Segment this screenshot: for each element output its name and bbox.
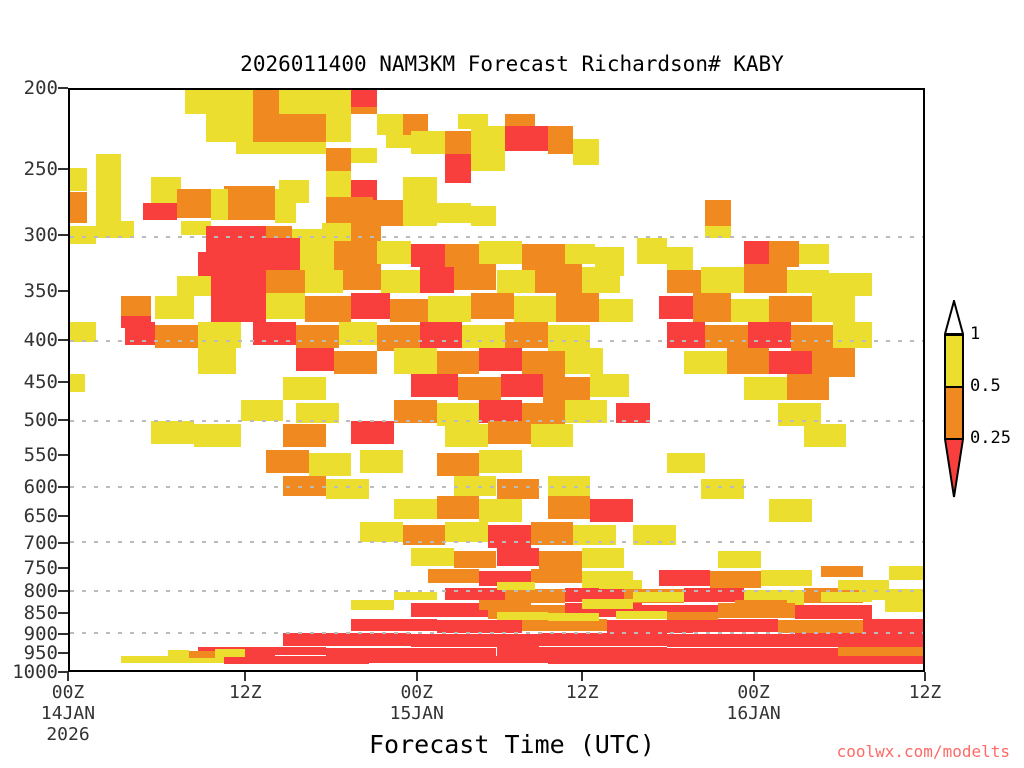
chart-root: 2026011400 NAM3KM Forecast Richardson# K… <box>0 0 1024 768</box>
heatmap-cell <box>279 90 352 114</box>
heatmap-cell <box>548 656 736 664</box>
colorbar-top-outline <box>944 300 964 334</box>
heatmap-cell <box>168 650 189 658</box>
heatmap-cell <box>326 197 373 223</box>
heatmap-cell <box>633 525 676 545</box>
heatmap-cell <box>731 299 769 322</box>
x-tick-label: 12Z <box>566 682 599 703</box>
y-tick <box>58 515 68 517</box>
heatmap-cell <box>266 450 309 473</box>
heatmap-cell <box>420 267 454 293</box>
heatmap-cell <box>705 226 731 238</box>
y-tick-label: 500 <box>24 409 58 431</box>
heatmap-cell <box>769 296 812 322</box>
heatmap-cell <box>403 525 446 545</box>
heatmap-cell <box>377 325 420 351</box>
heatmap-cell <box>121 296 151 316</box>
heatmap-cell <box>701 479 744 499</box>
heatmap-cell <box>428 569 479 584</box>
heatmap-cell <box>428 296 471 322</box>
heatmap-cell <box>859 589 923 601</box>
colorbar-bottom-arrow <box>944 438 964 498</box>
y-tick <box>58 168 68 170</box>
y-tick-label: 550 <box>24 444 58 466</box>
y-tick-label: 200 <box>24 77 58 99</box>
y-tick <box>58 419 68 421</box>
x-tick-label: 00Z <box>737 682 770 703</box>
y-tick-label: 450 <box>24 371 58 393</box>
heatmap-cell <box>283 424 326 447</box>
heatmap-cell <box>804 424 847 447</box>
x-tick-label: 12Z <box>909 682 942 703</box>
heatmap-cell <box>573 525 616 545</box>
heatmap-cell <box>283 476 326 496</box>
heatmap-cell <box>420 322 463 348</box>
heatmap-cell <box>305 270 343 293</box>
y-tick-label: 300 <box>24 224 58 246</box>
y-tick-label: 600 <box>24 476 58 498</box>
y-tick <box>58 290 68 292</box>
heatmap-cell <box>667 322 705 348</box>
y-tick-label: 250 <box>24 158 58 180</box>
heatmap-cell <box>633 592 684 601</box>
heatmap-cell <box>283 377 326 400</box>
heatmap-cell <box>125 322 155 345</box>
heatmap-cell <box>548 325 591 351</box>
heatmap-cell <box>522 351 565 377</box>
heatmap-cell <box>885 600 923 612</box>
heatmap-cell <box>479 499 522 522</box>
heatmap-cell <box>761 570 812 586</box>
heatmap-cell <box>445 154 471 183</box>
heatmap-cell <box>198 348 236 374</box>
heatmap-cell <box>386 135 412 148</box>
heatmap-cell <box>351 619 436 631</box>
heatmap-cell <box>211 264 266 296</box>
heatmap-cell <box>531 569 582 584</box>
heatmap-cell <box>437 496 480 519</box>
y-tick <box>58 486 68 488</box>
y-tick <box>58 590 68 592</box>
heatmap-cell <box>497 612 548 620</box>
heatmap-cell <box>198 322 241 348</box>
heatmap-cell <box>326 479 369 499</box>
heatmap-cell <box>833 322 871 348</box>
heatmap-cell <box>582 267 620 293</box>
heatmap-cell <box>479 241 522 264</box>
heatmap-cell <box>693 619 778 632</box>
heatmap-cell <box>194 424 241 447</box>
page-title: 2026011400 NAM3KM Forecast Richardson# K… <box>0 52 1024 76</box>
heatmap-cell <box>667 453 705 473</box>
heatmap-cell <box>479 450 522 473</box>
heatmap-cell <box>253 90 279 114</box>
heatmap-cell <box>351 148 377 163</box>
heatmap-cell <box>548 613 599 621</box>
y-tick <box>58 381 68 383</box>
heatmap-cell <box>411 244 445 267</box>
heatmap-cell <box>769 499 812 522</box>
colorbar-label: 0.25 <box>970 428 1011 448</box>
heatmap-cell <box>411 374 458 397</box>
y-tick <box>58 652 68 654</box>
heatmap-cell <box>599 299 633 322</box>
heatmap-cell <box>497 270 535 293</box>
heatmap-cell <box>70 374 85 391</box>
credit-watermark: coolwx.com/modelts <box>837 742 1010 761</box>
x-tick-label: 00Z <box>400 682 433 703</box>
heatmap-cell <box>795 633 923 647</box>
colorbar-label: 0.5 <box>970 376 1001 396</box>
x-tick <box>581 672 583 681</box>
heatmap-cell <box>211 189 228 221</box>
heatmap-cell <box>812 293 855 322</box>
heatmap-cell <box>889 566 923 581</box>
heatmap-cell <box>454 264 497 290</box>
x-tick <box>416 672 418 681</box>
heatmap-cell <box>607 620 692 633</box>
heatmap-cell <box>445 522 488 542</box>
y-tick-label: 650 <box>24 505 58 527</box>
y-tick <box>58 454 68 456</box>
x-tick-label: 00Z <box>52 682 85 703</box>
heatmap-cell <box>70 322 96 342</box>
heatmap-cell <box>667 634 795 647</box>
heatmap-cell <box>582 548 625 568</box>
x-tick-date: 16JAN <box>727 703 781 724</box>
heatmap-cell <box>616 611 667 619</box>
heatmap-cell <box>445 131 471 154</box>
heatmap-cell <box>787 374 830 400</box>
heatmap-cell <box>351 223 381 240</box>
heatmap-cell <box>236 142 326 154</box>
heatmap-cell <box>215 649 245 657</box>
heatmap-cell <box>479 600 530 609</box>
heatmap-cell <box>701 267 744 293</box>
colorbar-label: 1 <box>970 324 980 344</box>
heatmap-cell <box>659 296 693 319</box>
heatmap-cell <box>96 154 122 177</box>
heatmap-cell <box>185 90 253 114</box>
heatmap-cell <box>812 348 855 377</box>
heatmap-cell <box>778 620 863 633</box>
heatmap-cell <box>705 325 748 348</box>
heatmap-cell <box>300 247 334 270</box>
heatmap-cell <box>710 571 761 587</box>
heatmap-cell <box>462 325 505 348</box>
heatmap-cell <box>296 325 339 348</box>
heatmap-cell <box>309 453 352 476</box>
heatmap-cell <box>305 296 352 322</box>
y-tick-label: 400 <box>24 329 58 351</box>
heatmap-cell <box>556 293 599 322</box>
heatmap-cell <box>253 322 296 345</box>
heatmap-cell <box>266 270 304 296</box>
heatmap-cell <box>351 90 377 107</box>
heatmap-cell <box>471 293 514 319</box>
heatmap-cell <box>394 400 437 423</box>
heatmap-cell <box>377 114 403 135</box>
heatmap-cell <box>667 247 693 270</box>
heatmap-cell <box>471 126 505 154</box>
heatmap-cell <box>565 348 603 374</box>
heatmap-cell <box>211 296 266 322</box>
heatmap-cell <box>390 299 428 322</box>
y-tick <box>58 542 68 544</box>
heatmap-cell <box>531 522 574 545</box>
heatmap-cell <box>514 296 557 322</box>
y-tick-label: 850 <box>24 602 58 624</box>
heatmap-cell <box>539 633 667 646</box>
heatmap-cell <box>735 656 923 665</box>
gridline <box>70 670 923 672</box>
heatmap-cell <box>769 351 812 374</box>
heatmap-cell <box>377 241 411 264</box>
heatmap-cell <box>394 348 437 374</box>
heatmap-cell <box>411 634 539 647</box>
heatmap-cell <box>769 241 799 267</box>
heatmap-cell <box>748 322 791 348</box>
heatmap-cell <box>360 450 403 473</box>
heatmap-cell <box>590 374 628 397</box>
y-tick <box>58 633 68 635</box>
y-tick-label: 700 <box>24 532 58 554</box>
heatmap-cell <box>616 403 650 423</box>
heatmap-cell <box>296 403 339 423</box>
heatmap-cell <box>373 200 403 226</box>
heatmap-cell <box>548 126 574 154</box>
heatmap-cell <box>488 525 531 548</box>
plot-area <box>68 88 925 672</box>
heatmap-cell <box>548 496 591 519</box>
y-tick <box>58 567 68 569</box>
heatmap-cell <box>411 131 445 154</box>
y-tick-label: 750 <box>24 557 58 579</box>
x-tick-date: 15JAN <box>390 703 444 724</box>
heatmap-cell <box>206 114 253 142</box>
heatmap-cell <box>143 203 177 220</box>
heatmap-cell <box>253 114 326 142</box>
heatmap-cell <box>151 421 194 444</box>
heatmap-cell <box>488 421 531 444</box>
heatmap-cell <box>381 270 419 293</box>
heatmap-cell <box>437 453 480 476</box>
heatmap-cell <box>471 154 505 171</box>
heatmap-cell <box>458 377 501 400</box>
heatmap-cell <box>360 522 403 542</box>
heatmap-cell <box>667 270 701 293</box>
heatmap-cell <box>565 400 608 423</box>
heatmap-cell <box>437 351 480 374</box>
heatmap-cell <box>799 244 829 264</box>
heatmap-cell <box>241 400 284 420</box>
x-tick <box>244 672 246 681</box>
heatmap-cell <box>437 620 522 633</box>
heatmap-cell <box>684 351 727 374</box>
heatmap-cell <box>582 599 633 608</box>
heatmap-cell <box>497 479 540 499</box>
heatmap-cell <box>155 296 193 319</box>
heatmap-cell <box>445 424 488 447</box>
heatmap-cell <box>279 180 309 203</box>
heatmap-cell <box>351 600 394 609</box>
heatmap-cell <box>411 548 454 565</box>
heatmap-cell <box>189 651 215 658</box>
heatmap-cell <box>245 651 275 659</box>
heatmap-cell <box>667 612 718 620</box>
y-tick <box>58 87 68 89</box>
colorbar-segment-yellow[interactable] <box>944 334 964 386</box>
heatmap-cell <box>471 206 497 226</box>
colorbar-segment-orange[interactable] <box>944 386 964 438</box>
x-tick <box>924 672 926 681</box>
heatmap-cell <box>744 377 787 400</box>
heatmap-cell <box>659 570 710 586</box>
heatmap-cell <box>394 592 437 600</box>
heatmap-cell <box>369 656 548 664</box>
y-tick-label: 350 <box>24 280 58 302</box>
heatmap-cell <box>351 107 377 114</box>
heatmap-cell <box>735 600 786 609</box>
heatmap-cell <box>501 374 544 397</box>
heatmap-cell <box>637 238 667 264</box>
heatmap-cell <box>531 424 574 447</box>
heatmap-cell <box>573 139 599 165</box>
heatmap-cell <box>535 264 582 293</box>
heatmap-cell <box>505 126 548 151</box>
y-tick <box>58 612 68 614</box>
heatmap-cell <box>744 241 770 264</box>
y-tick <box>58 234 68 236</box>
heatmap-cell <box>339 322 377 345</box>
heatmap-cell <box>70 226 96 243</box>
heatmap-cell <box>590 499 633 522</box>
heatmap-cell <box>334 351 377 374</box>
heatmap-cell <box>394 499 437 519</box>
heatmap-cell <box>177 276 211 296</box>
heatmap-cell <box>821 566 864 578</box>
heatmap-cell <box>863 619 923 633</box>
heatmap-cell <box>693 293 731 322</box>
heatmap-cell <box>727 348 770 374</box>
heatmap-cell <box>454 476 497 496</box>
heatmap-cell <box>437 203 471 223</box>
heatmap-cell <box>224 186 275 221</box>
heatmap-cell <box>403 206 437 226</box>
heatmap-cell <box>343 264 381 290</box>
y-tick-label: 1000 <box>12 661 58 683</box>
heatmap-cell <box>543 377 590 403</box>
heatmap-cells <box>70 90 923 670</box>
heatmap-cell <box>266 293 304 319</box>
heatmap-cell <box>599 580 642 589</box>
heatmap-cell <box>744 264 787 293</box>
heatmap-cell <box>283 633 411 646</box>
heatmap-cell <box>565 244 595 264</box>
heatmap-cell <box>70 168 87 191</box>
y-tick <box>58 339 68 341</box>
heatmap-cell <box>411 603 488 616</box>
x-tick-date: 14JAN <box>41 703 95 724</box>
heatmap-cell <box>505 322 548 348</box>
heatmap-cell <box>705 200 731 226</box>
x-tick <box>753 672 755 681</box>
y-tick-label: 800 <box>24 580 58 602</box>
heatmap-cell <box>795 605 872 619</box>
heatmap-cell <box>403 177 437 206</box>
heatmap-cell <box>326 114 352 142</box>
heatmap-cell <box>96 221 134 238</box>
heatmap-cell <box>177 189 211 218</box>
heatmap-cell <box>326 171 352 197</box>
heatmap-cell <box>454 551 497 568</box>
heatmap-cell <box>351 293 389 319</box>
heatmap-cell <box>351 421 394 444</box>
heatmap-cell <box>497 582 535 590</box>
heatmap-cell <box>548 476 591 496</box>
heatmap-cell <box>479 348 522 371</box>
x-tick-label: 12Z <box>229 682 262 703</box>
heatmap-cell <box>787 270 830 293</box>
heatmap-cell <box>791 325 834 351</box>
heatmap-cell <box>326 148 352 171</box>
heatmap-cell <box>155 325 198 348</box>
heatmap-cell <box>70 192 87 224</box>
heatmap-cell <box>497 548 540 565</box>
x-tick <box>67 672 69 681</box>
heatmap-cell <box>718 551 761 568</box>
heatmap-cell <box>296 348 334 371</box>
